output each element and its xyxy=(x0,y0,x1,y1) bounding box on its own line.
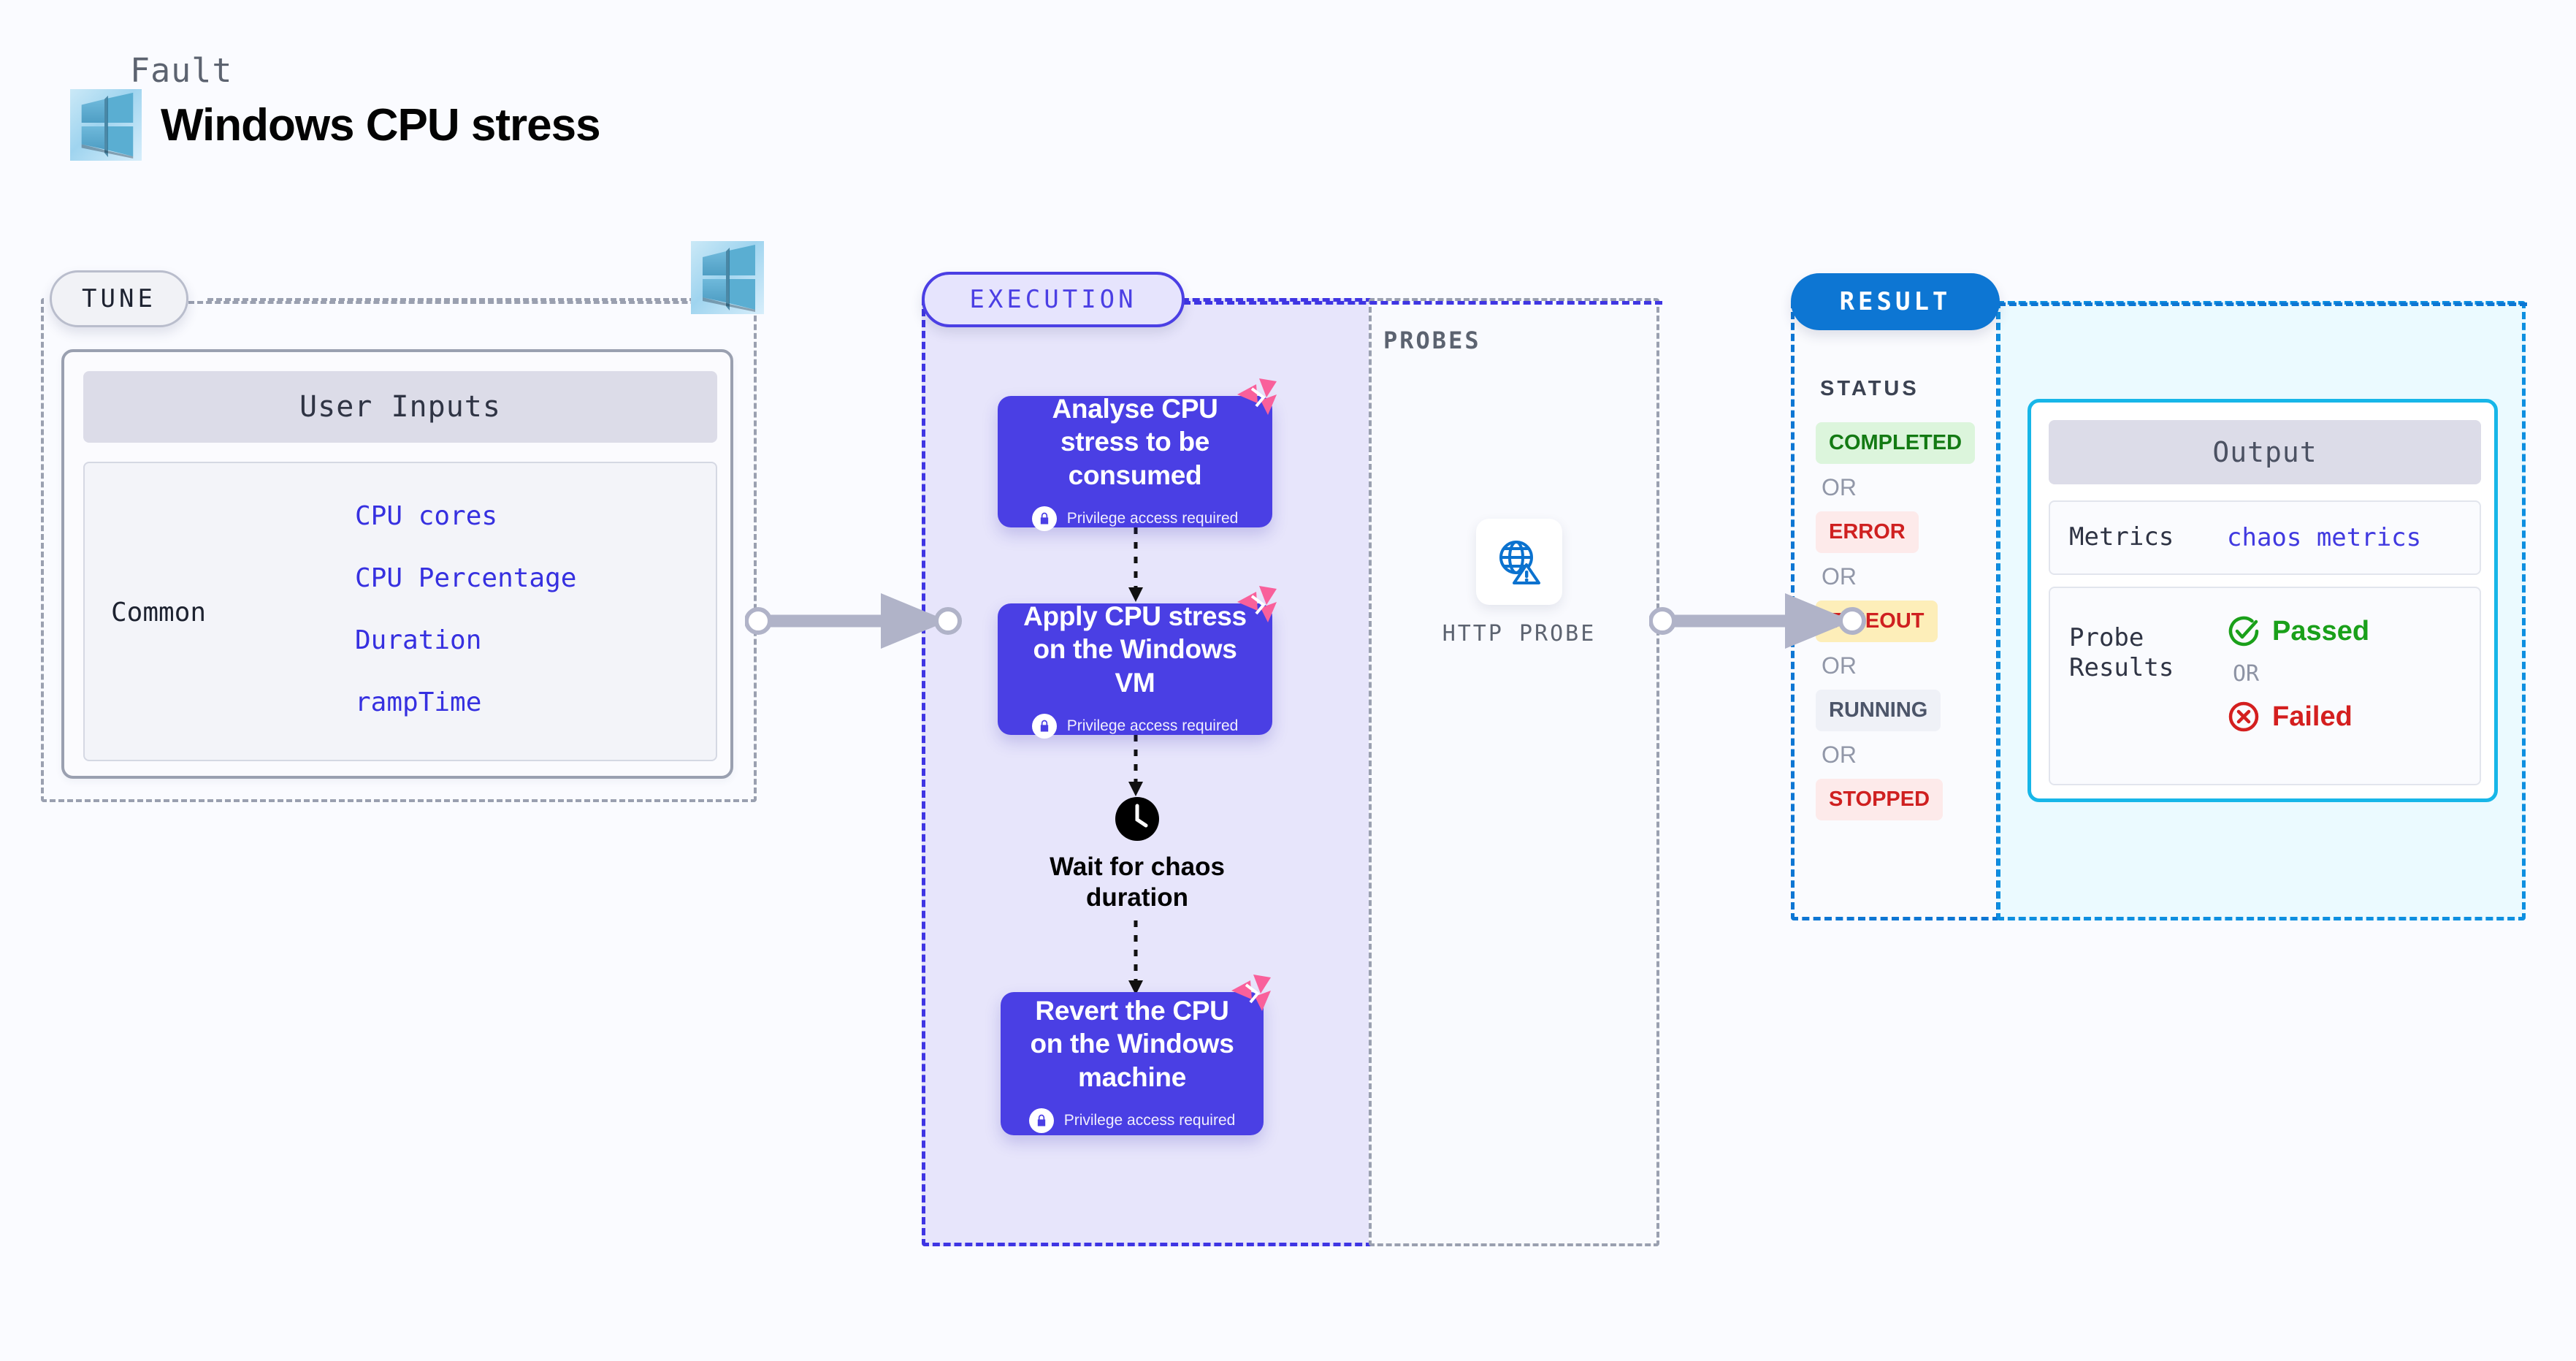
privilege-label: Privilege access required xyxy=(1064,1112,1236,1129)
status-badge: ERROR xyxy=(1816,511,1919,553)
execution-step-card[interactable]: Apply CPU stress on the Windows VM Privi… xyxy=(998,603,1272,735)
wait-step-label: Wait for chaos duration xyxy=(1023,852,1252,913)
probe-results-values: Passed OR Failed xyxy=(2227,614,2369,733)
output-panel: Output Metrics chaos metrics Probe Resul… xyxy=(2027,399,2498,802)
input-item[interactable]: CPU cores xyxy=(355,501,691,531)
failed-label: Failed xyxy=(2272,701,2353,733)
page-title: Windows CPU stress xyxy=(161,99,600,151)
flow-arrow-down xyxy=(1116,920,1155,996)
tune-dashed-connector xyxy=(188,301,758,304)
probe-results-key-label: Probe Results xyxy=(2069,623,2227,684)
privilege-label: Privilege access required xyxy=(1067,717,1239,735)
execution-step-title: Apply CPU stress on the Windows VM xyxy=(998,600,1272,698)
flow-arrow-down xyxy=(1116,735,1155,798)
title-row: Windows CPU stress xyxy=(70,89,600,161)
probes-section-label: PROBES xyxy=(1383,327,1481,354)
input-item[interactable]: CPU Percentage xyxy=(355,563,691,593)
lock-icon xyxy=(1032,714,1057,739)
input-group-label: Common xyxy=(111,598,206,628)
execution-step-title: Analyse CPU stress to be consumed xyxy=(998,392,1272,491)
probe-label: HTTP PROBE xyxy=(1442,621,1597,647)
execution-dashed-connector xyxy=(1183,301,1662,305)
metrics-value[interactable]: chaos metrics xyxy=(2227,523,2421,552)
litmus-mark-icon xyxy=(1234,586,1278,627)
status-badge: STOPPED xyxy=(1816,779,1943,820)
probe-result-failed: Failed xyxy=(2227,700,2369,733)
litmus-mark-icon xyxy=(1234,378,1278,419)
execution-step-title: Revert the CPU on the Windows machine xyxy=(1001,994,1264,1093)
probes-section-frame xyxy=(1369,298,1659,1246)
probe-item[interactable]: HTTP PROBE xyxy=(1453,519,1585,647)
passed-label: Passed xyxy=(2272,616,2369,647)
lock-icon xyxy=(1032,506,1057,531)
probe-results-row: Probe Results Passed OR Failed xyxy=(2049,587,2481,785)
metrics-key-label: Metrics xyxy=(2069,522,2227,552)
fault-kind-label: Fault xyxy=(130,51,232,90)
input-item[interactable]: rampTime xyxy=(355,687,691,717)
output-header: Output xyxy=(2049,420,2481,484)
privilege-notice: Privilege access required xyxy=(1029,1108,1236,1133)
x-circle-icon xyxy=(2227,700,2260,733)
result-dashed-connector xyxy=(1998,302,2527,306)
input-item[interactable]: Duration xyxy=(355,625,691,655)
user-inputs-card: User Inputs Common CPU cores CPU Percent… xyxy=(61,349,733,779)
privilege-notice: Privilege access required xyxy=(1032,714,1239,739)
tune-to-execution-connector xyxy=(745,577,964,665)
or-separator: OR xyxy=(1822,742,1991,769)
probe-result-passed: Passed xyxy=(2227,614,2369,648)
status-badge: RUNNING xyxy=(1816,690,1941,731)
globe-warning-icon xyxy=(1476,519,1562,605)
page-header: Fault Windo xyxy=(70,44,800,190)
or-separator: OR xyxy=(1822,474,1991,501)
check-circle-icon xyxy=(2227,614,2260,648)
lock-icon xyxy=(1029,1108,1054,1133)
privilege-label: Privilege access required xyxy=(1067,510,1239,527)
tune-section-pill[interactable]: TUNE xyxy=(50,270,188,327)
diagram-canvas: Fault Windo xyxy=(0,0,2576,1361)
or-separator: OR xyxy=(2233,661,2369,687)
execution-section-pill[interactable]: EXECUTION xyxy=(922,272,1185,327)
clock-icon xyxy=(1115,796,1160,842)
probes-to-result-connector xyxy=(1649,577,1868,665)
flow-arrow-down xyxy=(1116,527,1155,603)
execution-step-card[interactable]: Analyse CPU stress to be consumed Privil… xyxy=(998,396,1272,527)
wait-for-chaos-duration-step: Wait for chaos duration xyxy=(1023,796,1252,913)
user-inputs-body: Common CPU cores CPU Percentage Duration… xyxy=(83,462,717,761)
metrics-row: Metrics chaos metrics xyxy=(2049,500,2481,575)
execution-step-card[interactable]: Revert the CPU on the Windows machine Pr… xyxy=(1001,992,1264,1135)
result-section-pill[interactable]: RESULT xyxy=(1791,273,2000,330)
windows-logo-icon xyxy=(70,89,142,161)
status-badge: COMPLETED xyxy=(1816,422,1975,464)
windows-logo-icon xyxy=(691,241,764,314)
input-list: CPU cores CPU Percentage Duration rampTi… xyxy=(355,501,691,717)
litmus-mark-icon xyxy=(1228,975,1272,1015)
privilege-notice: Privilege access required xyxy=(1032,506,1239,531)
status-heading: STATUS xyxy=(1820,377,1919,401)
user-inputs-header: User Inputs xyxy=(83,371,717,443)
